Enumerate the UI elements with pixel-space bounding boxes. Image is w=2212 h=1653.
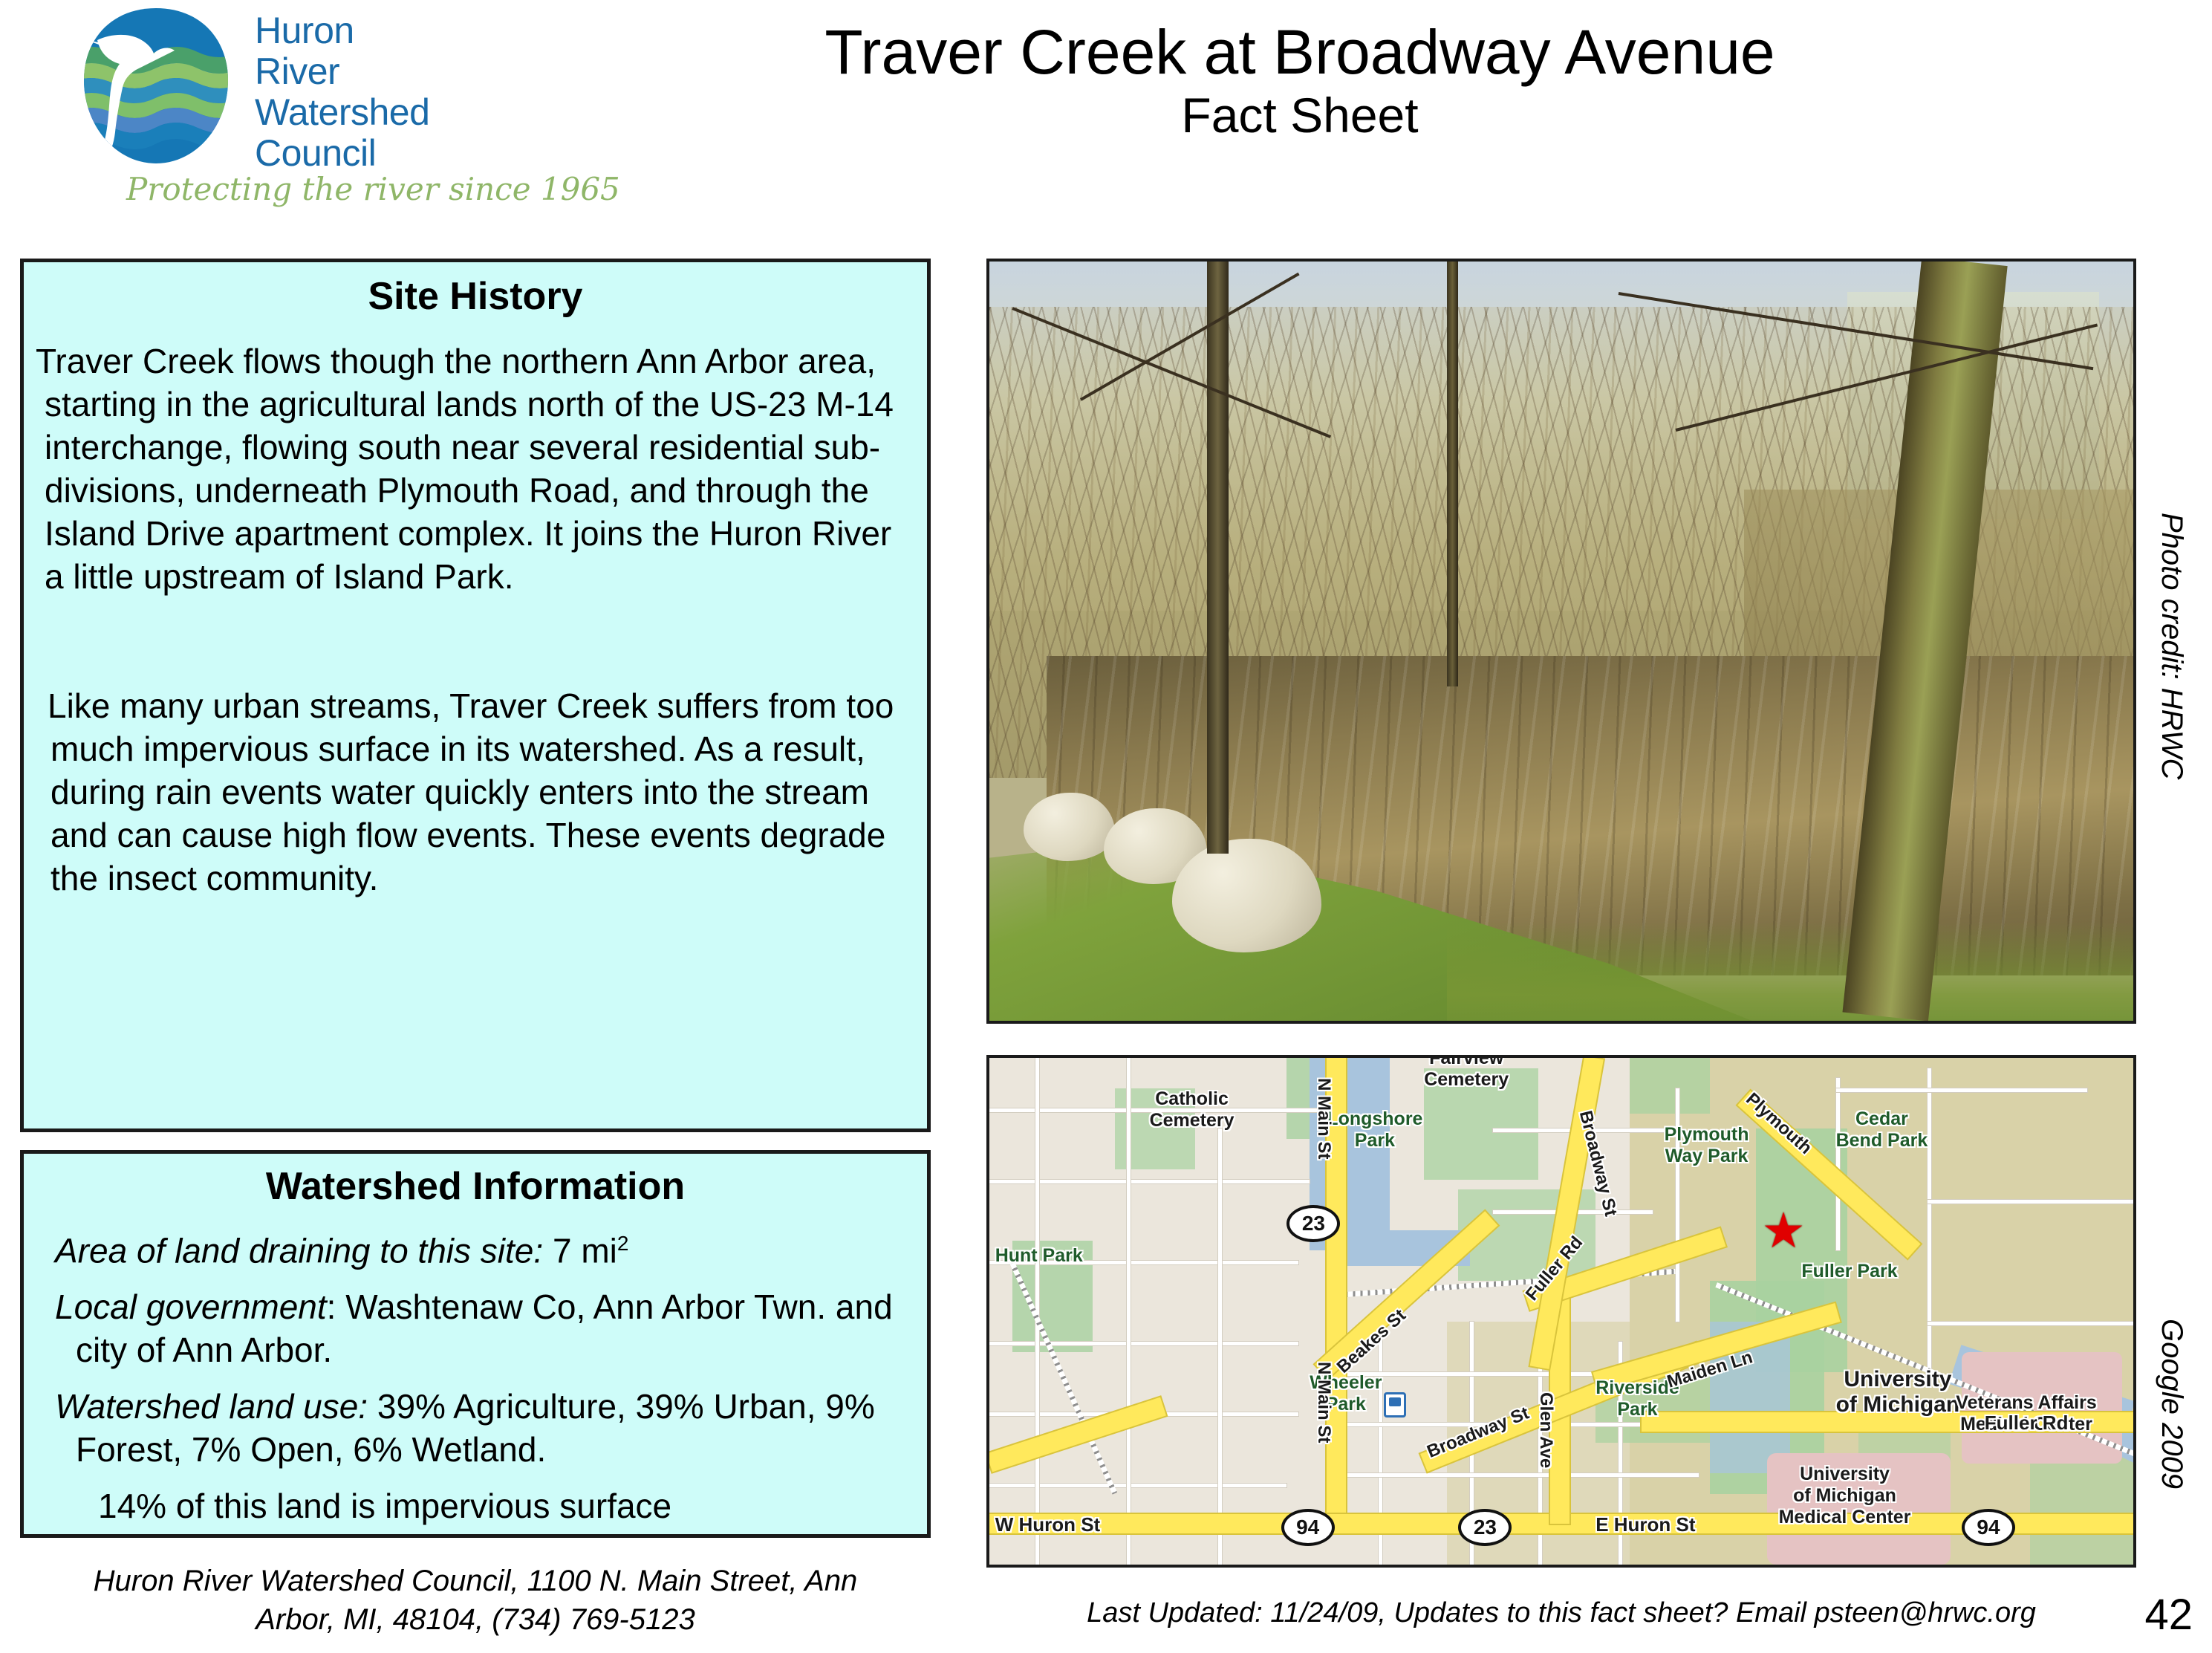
logo-line-2: River — [255, 51, 429, 92]
last-updated-footer: Last Updated: 11/24/09, Updates to this … — [986, 1597, 2136, 1629]
map-road-white-h3 — [1333, 1473, 1699, 1477]
map-label-va-medical-center-line1: Veterans Affairs — [1956, 1392, 2096, 1414]
map-shield-us-23-south: 23 — [1458, 1509, 1512, 1546]
hrwc-logo: Huron River Watershed Council Protecting… — [71, 6, 546, 229]
map-road-white-6 — [989, 1484, 1286, 1487]
map-label-fairview-cemetery: Fairview Cemetery — [1424, 1055, 1509, 1091]
watershed-item-area-value: 7 mi — [543, 1231, 617, 1270]
map-road-white-campus-h1 — [1836, 1088, 2088, 1092]
map-label-cedar-bend-park: Cedar Bend Park — [1836, 1108, 1928, 1152]
address-line-2: Arbor, MI, 48104, (734) 769-5123 — [20, 1600, 931, 1639]
watershed-item-impervious: 14% of this land is impervious surface — [24, 1484, 927, 1527]
map-road-white-campus-v2 — [1836, 1078, 1840, 1250]
watershed-item-land-use: Watershed land use: 39% Agriculture, 39%… — [24, 1385, 927, 1471]
site-photograph — [986, 259, 2136, 1024]
photo-tree-trunk-left — [1207, 262, 1229, 854]
map-label-longshore-park-line1: Longshore — [1327, 1108, 1422, 1130]
heron-logo-icon — [71, 6, 241, 166]
map-street-n-main-st-south: N Main St — [1313, 1362, 1335, 1443]
map-label-riverside-park-line2: Park — [1595, 1399, 1679, 1420]
map-label-catholic-cemetery-line2: Cemetery — [1150, 1110, 1235, 1131]
map-label-plymouth-way-park-line1: Plymouth — [1665, 1124, 1749, 1146]
photo-rock-1 — [1024, 793, 1115, 861]
page-title-line-2: Fact Sheet — [594, 86, 2006, 144]
watershed-item-impervious-value: 14% of this land is impervious surface — [98, 1487, 671, 1525]
map-label-longshore-park: Longshore Park — [1327, 1108, 1422, 1152]
logo-tagline: Protecting the river since 1965 — [126, 171, 620, 207]
photo-rock-3 — [1172, 839, 1321, 952]
address-line-1: Huron River Watershed Council, 1100 N. M… — [20, 1562, 931, 1600]
watershed-item-land-use-label: Watershed land use: — [55, 1387, 368, 1426]
map-road-white-v2 — [1127, 1058, 1131, 1565]
map-shield-bl-94-west: 94 — [1281, 1509, 1335, 1546]
map-label-fairview-cemetery-line1: Fairview — [1424, 1055, 1509, 1069]
map-label-umich-medical-center-line2: of Michigan — [1779, 1485, 1911, 1507]
map-road-white-v3 — [1218, 1128, 1222, 1565]
map-label-umich-medical-center-line1: University — [1779, 1464, 1911, 1485]
page-title-line-1: Traver Creek at Broadway Avenue — [594, 18, 2006, 86]
watershed-item-area: Area of land draining to this site: 7 mi… — [24, 1222, 927, 1272]
map-street-e-huron-st: E Huron St — [1595, 1514, 1695, 1536]
photo-tree-trunk-mid — [1447, 262, 1458, 686]
photo-credit-label: Photo credit: HRWC — [2155, 513, 2188, 779]
map-label-riverside-park: Riverside Park — [1595, 1377, 1679, 1420]
watershed-item-area-label: Area of land draining to this site: — [55, 1231, 543, 1270]
watershed-information-title: Watershed Information — [24, 1164, 927, 1209]
map-road-white-campus-h3 — [1928, 1322, 2133, 1325]
logo-wordmark: Huron River Watershed Council — [255, 10, 429, 174]
map-street-glen-ave: Glen Ave — [1535, 1392, 1557, 1468]
map-label-university-of-michigan-line2: of Michigan — [1836, 1392, 1960, 1417]
map-label-catholic-cemetery: Catholic Cemetery — [1150, 1088, 1235, 1131]
map-label-umich-medical-center: University of Michigan Medical Center — [1779, 1464, 1911, 1528]
organization-address: Huron River Watershed Council, 1100 N. M… — [20, 1562, 931, 1639]
photo-grass-foreground — [1447, 922, 2136, 1024]
logo-line-1: Huron — [255, 10, 429, 51]
map-label-university-of-michigan: University of Michigan — [1836, 1367, 1960, 1417]
watershed-item-local-government-label: Local government — [55, 1287, 327, 1326]
page-title: Traver Creek at Broadway Avenue Fact She… — [594, 18, 2006, 144]
map-label-umich-medical-center-line3: Medical Center — [1779, 1507, 1911, 1528]
map-street-fuller-rd-east: Fuller Rd — [1985, 1412, 2069, 1434]
star-icon: ★ — [1762, 1203, 1806, 1258]
logo-line-3: Watershed — [255, 92, 429, 133]
map-road-white-campus-h2 — [1928, 1200, 2133, 1204]
site-history-paragraph-2: Like many urban streams, Traver Creek su… — [24, 684, 927, 900]
map-label-catholic-cemetery-line1: Catholic — [1150, 1088, 1235, 1110]
map-shield-bl-94-east: 94 — [1962, 1509, 2015, 1546]
site-history-paragraph-1: Traver Creek flows though the northern A… — [24, 340, 927, 598]
logo-line-4: Council — [255, 133, 429, 174]
site-location-marker[interactable]: ★ — [1762, 1230, 1806, 1251]
map-label-longshore-park-line2: Park — [1327, 1130, 1422, 1152]
map-label-fairview-cemetery-line2: Cemetery — [1424, 1069, 1509, 1091]
map-street-n-main-st-north: N Main St — [1313, 1078, 1335, 1159]
site-history-panel: Site History Traver Creek flows though t… — [20, 259, 931, 1132]
map-green-fairview — [1630, 1058, 1710, 1114]
map-label-university-of-michigan-line1: University — [1836, 1367, 1960, 1392]
site-history-title: Site History — [24, 274, 927, 319]
watershed-information-panel: Watershed Information Area of land drain… — [20, 1150, 931, 1538]
map-label-plymouth-way-park-line2: Way Park — [1665, 1146, 1749, 1167]
map-label-hunt-park: Hunt Park — [995, 1245, 1083, 1267]
watershed-item-local-government: Local government: Washtenaw Co, Ann Arbo… — [24, 1285, 927, 1371]
watershed-item-area-superscript: 2 — [617, 1232, 629, 1255]
map-label-plymouth-way-park: Plymouth Way Park — [1665, 1124, 1749, 1167]
location-map[interactable]: ★ 23 94 23 94 Catholic Cemetery Fairview… — [986, 1055, 2136, 1568]
map-label-fuller-park: Fuller Park — [1801, 1261, 1897, 1282]
page-number: 42 — [2144, 1590, 2193, 1640]
map-shield-us-23-north: 23 — [1286, 1205, 1340, 1242]
map-label-cedar-bend-park-line1: Cedar — [1836, 1108, 1928, 1130]
map-road-white-campus-v3 — [1928, 1068, 1931, 1372]
map-label-cedar-bend-park-line2: Bend Park — [1836, 1130, 1928, 1152]
map-street-w-huron-st: W Huron St — [995, 1514, 1101, 1536]
map-credit-label: Google 2009 — [2155, 1319, 2188, 1489]
train-station-icon — [1384, 1392, 1406, 1417]
